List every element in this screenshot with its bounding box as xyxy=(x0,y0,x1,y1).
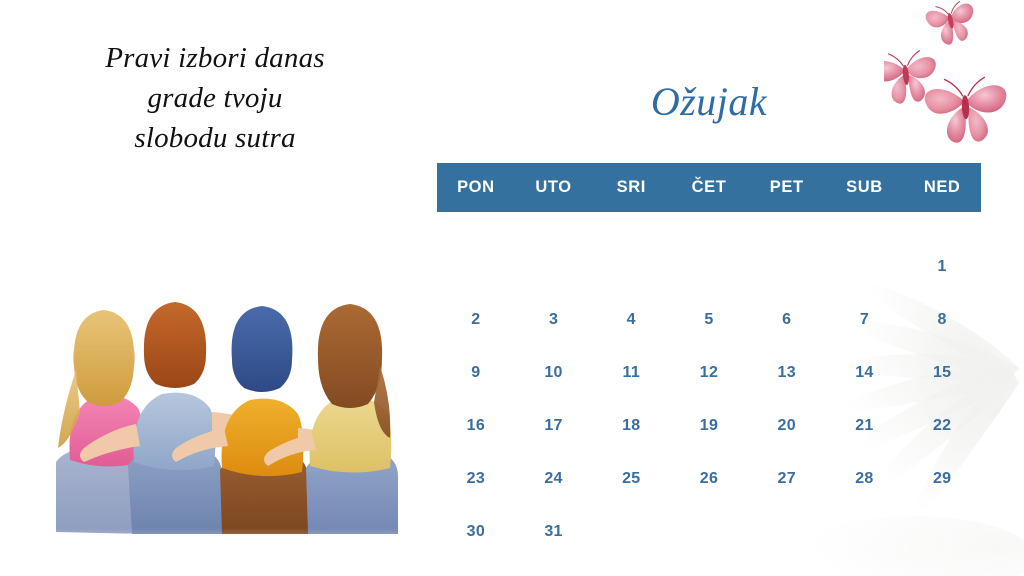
person-bluehair-orange xyxy=(172,306,353,534)
calendar-day-4[interactable]: 4 xyxy=(592,293,670,346)
calendar-day-25[interactable]: 25 xyxy=(592,452,670,505)
calendar-day-blank xyxy=(515,240,593,293)
weekday-pet: PET xyxy=(748,178,826,197)
person-blonde-pink xyxy=(56,310,148,534)
calendar-day-14[interactable]: 14 xyxy=(826,346,904,399)
calendar-day-blank xyxy=(592,240,670,293)
person-auburn-bluegrey xyxy=(80,302,269,534)
calendar-day-grid: 1234567891011121314151617181920212223242… xyxy=(437,240,981,558)
calendar-day-2[interactable]: 2 xyxy=(437,293,515,346)
calendar-day-5[interactable]: 5 xyxy=(670,293,748,346)
calendar-day-22[interactable]: 22 xyxy=(903,399,981,452)
butterflies-illustration xyxy=(884,0,1022,146)
calendar-day-20[interactable]: 20 xyxy=(748,399,826,452)
friends-group xyxy=(36,302,426,562)
calendar-day-31[interactable]: 31 xyxy=(515,505,593,558)
calendar-day-12[interactable]: 12 xyxy=(670,346,748,399)
calendar-day-blank xyxy=(748,240,826,293)
weekday-pon: PON xyxy=(437,178,515,197)
calendar-day-17[interactable]: 17 xyxy=(515,399,593,452)
calendar-day-9[interactable]: 9 xyxy=(437,346,515,399)
calendar-day-16[interactable]: 16 xyxy=(437,399,515,452)
calendar-day-26[interactable]: 26 xyxy=(670,452,748,505)
weekday-uto: UTO xyxy=(515,178,593,197)
calendar-day-11[interactable]: 11 xyxy=(592,346,670,399)
weekday-sri: SRI xyxy=(592,178,670,197)
calendar-day-28[interactable]: 28 xyxy=(826,452,904,505)
calendar-day-15[interactable]: 15 xyxy=(903,346,981,399)
calendar-day-18[interactable]: 18 xyxy=(592,399,670,452)
month-title: Ožujak xyxy=(437,82,981,122)
calendar-day-19[interactable]: 19 xyxy=(670,399,748,452)
weekday-cet: ČET xyxy=(670,178,748,197)
quote-line-1: Pravi izbori danas xyxy=(40,38,390,78)
calendar-day-blank xyxy=(826,240,904,293)
calendar-day-24[interactable]: 24 xyxy=(515,452,593,505)
butterfly-small xyxy=(924,0,979,48)
calendar-day-23[interactable]: 23 xyxy=(437,452,515,505)
calendar-day-13[interactable]: 13 xyxy=(748,346,826,399)
quote-line-2: grade tvoju xyxy=(40,78,390,118)
quote-text: Pravi izbori danas grade tvoju slobodu s… xyxy=(40,38,390,158)
weekday-ned: NED xyxy=(903,178,981,197)
calendar-day-1[interactable]: 1 xyxy=(903,240,981,293)
calendar-day-8[interactable]: 8 xyxy=(903,293,981,346)
four-friends-illustration xyxy=(36,262,426,562)
calendar: PON UTO SRI ČET PET SUB NED 123456789101… xyxy=(437,163,981,558)
quote-line-3: slobodu sutra xyxy=(40,118,390,158)
calendar-day-27[interactable]: 27 xyxy=(748,452,826,505)
calendar-day-6[interactable]: 6 xyxy=(748,293,826,346)
calendar-day-7[interactable]: 7 xyxy=(826,293,904,346)
weekday-sub: SUB xyxy=(826,178,904,197)
calendar-day-21[interactable]: 21 xyxy=(826,399,904,452)
calendar-day-30[interactable]: 30 xyxy=(437,505,515,558)
calendar-weekday-header: PON UTO SRI ČET PET SUB NED xyxy=(437,163,981,212)
calendar-day-blank xyxy=(670,240,748,293)
person-brown-yellow xyxy=(264,304,398,534)
calendar-day-29[interactable]: 29 xyxy=(903,452,981,505)
calendar-day-blank xyxy=(437,240,515,293)
calendar-day-3[interactable]: 3 xyxy=(515,293,593,346)
calendar-day-10[interactable]: 10 xyxy=(515,346,593,399)
slide-canvas: Pravi izbori danas grade tvoju slobodu s… xyxy=(0,0,1024,576)
